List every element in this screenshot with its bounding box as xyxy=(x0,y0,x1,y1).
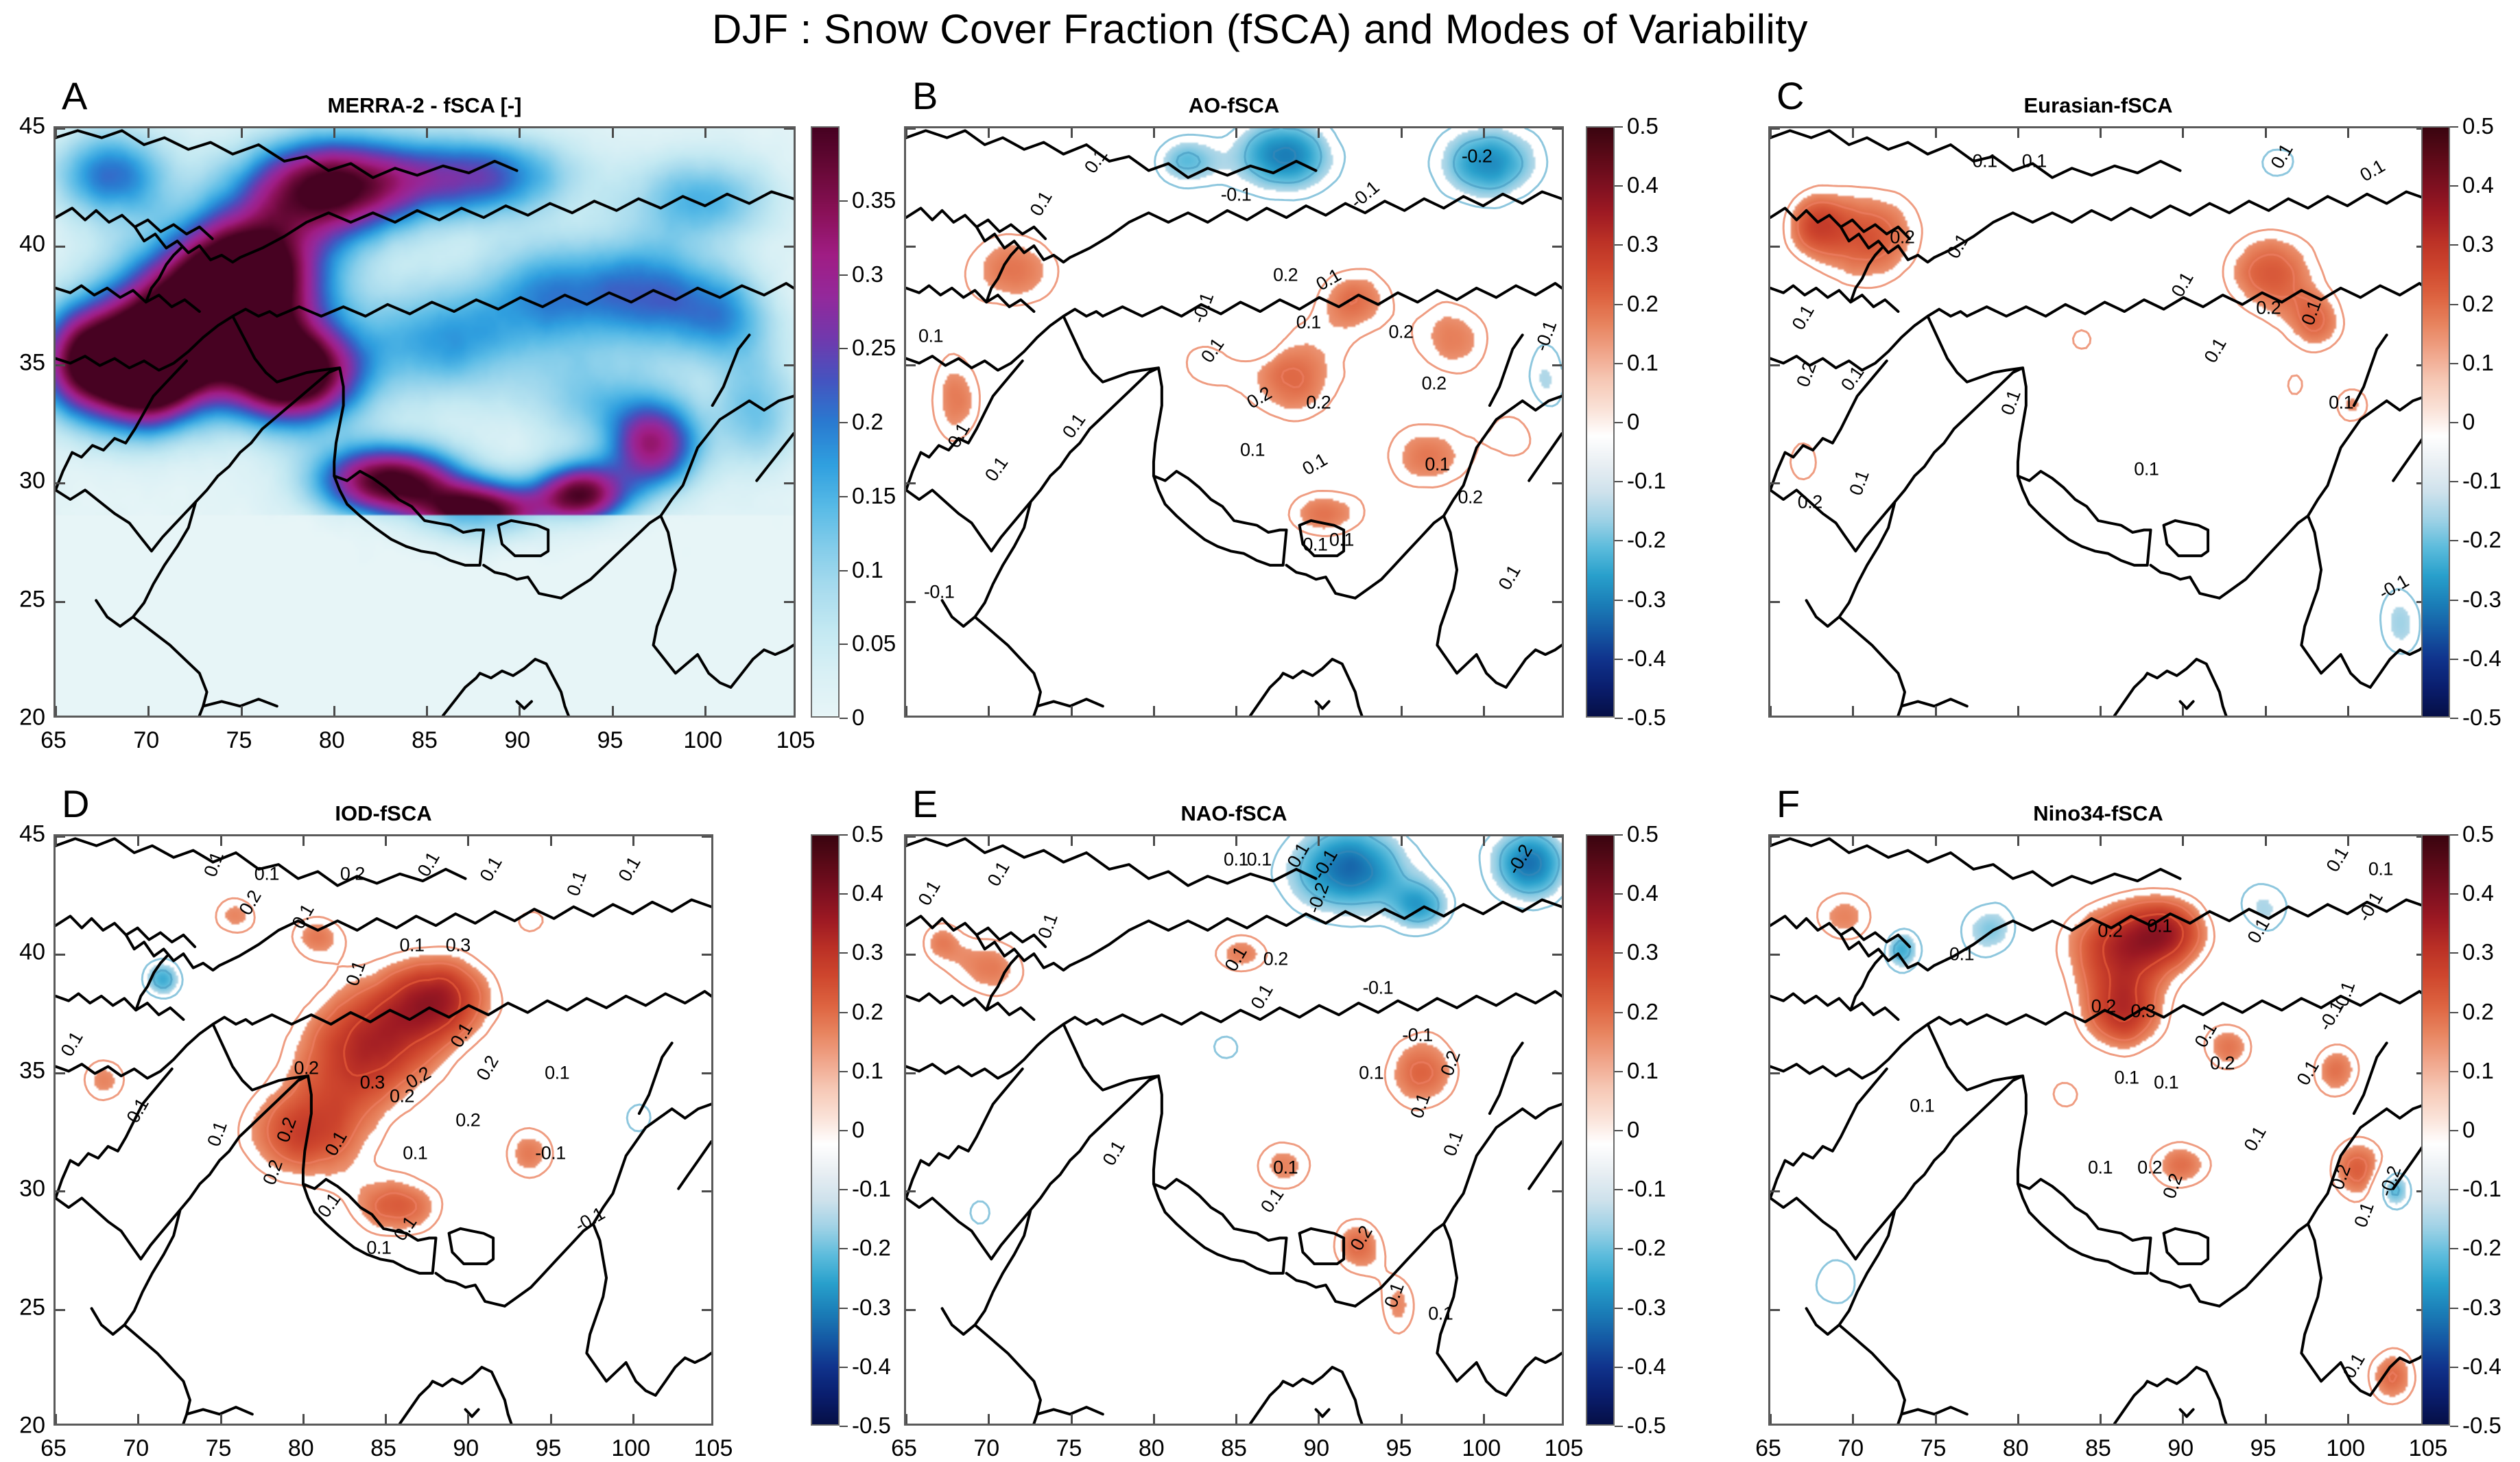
colorbar-tick-label: -0.1 xyxy=(2462,1176,2501,1202)
colorbar-tick-label: 0.2 xyxy=(1627,999,1659,1025)
colorbar-tick-label: -0.3 xyxy=(2462,587,2501,613)
x-tick-top xyxy=(2182,128,2184,138)
colorbar-tick xyxy=(1615,1189,1623,1190)
colorbar-tick xyxy=(2450,600,2458,601)
x-tick xyxy=(1235,706,1237,716)
colorbar-tick xyxy=(1615,1367,1623,1368)
x-axis-label: 95 xyxy=(2250,1435,2277,1462)
x-tick xyxy=(988,1414,990,1424)
colorbar-tick-label: 0.4 xyxy=(2462,880,2494,906)
y-tick-right xyxy=(1552,836,1562,838)
x-tick xyxy=(137,1414,139,1424)
colorbar-tick-label: -0.5 xyxy=(1627,1413,1666,1439)
x-tick-top xyxy=(2182,836,2184,846)
contour-label: 0.1 xyxy=(1425,453,1449,475)
map-borders-a xyxy=(56,128,794,716)
colorbar-tick xyxy=(840,893,848,895)
colorbar-tick-label: 0.4 xyxy=(1627,172,1659,198)
colorbar-tick xyxy=(2450,1130,2458,1131)
y-tick-right xyxy=(1552,1309,1562,1311)
contour-label: -0.1 xyxy=(924,581,955,602)
x-tick-top xyxy=(1483,128,1485,138)
y-tick xyxy=(56,1309,65,1311)
colorbar-tick xyxy=(1615,659,1623,660)
x-tick-top xyxy=(1318,128,1320,138)
colorbar-tick xyxy=(1615,185,1623,187)
contour-label: 0.3 xyxy=(360,1072,385,1093)
y-tick xyxy=(56,246,65,248)
map-axes-a xyxy=(54,126,796,718)
colorbar-tick xyxy=(2450,1071,2458,1072)
x-tick-top xyxy=(147,128,150,138)
contour-label: 0.1 xyxy=(2022,151,2047,172)
y-tick-right xyxy=(702,954,711,956)
contour-label: 0.2 xyxy=(1422,373,1447,394)
x-tick-top xyxy=(905,128,907,138)
x-tick xyxy=(55,706,57,716)
x-tick xyxy=(426,706,428,716)
colorbar-tick xyxy=(2450,185,2458,187)
x-axis-label: 75 xyxy=(1921,1435,1947,1462)
colorbar-tick-label: -0.1 xyxy=(852,1176,891,1202)
colorbar-tick-label: 0 xyxy=(1627,1117,1639,1143)
colorbar-a: 00.050.10.150.20.250.30.35 xyxy=(811,126,840,718)
x-axis-label: 65 xyxy=(40,727,67,754)
x-axis-label: 100 xyxy=(2326,1435,2365,1462)
colorbar-tick-label: 0.3 xyxy=(2462,231,2494,257)
panel-title-d: IOD-fSCA xyxy=(54,801,713,826)
colorbar-tick xyxy=(840,422,848,423)
colorbar-tick-label: 0.4 xyxy=(2462,172,2494,198)
y-axis-label: 35 xyxy=(1,349,45,376)
x-tick-top xyxy=(467,836,469,846)
y-tick xyxy=(906,1309,916,1311)
y-tick-right xyxy=(702,1190,711,1192)
colorbar-tick-label: 0.2 xyxy=(2462,999,2494,1025)
x-tick xyxy=(1770,1414,1772,1424)
colorbar-tick-label: 0.5 xyxy=(1627,113,1659,139)
y-tick xyxy=(906,128,916,130)
contour-label: 0.2 xyxy=(2256,298,2281,319)
y-tick xyxy=(56,364,65,366)
colorbar-tick-label: -0.3 xyxy=(852,1295,891,1321)
colorbar-tick xyxy=(2450,363,2458,364)
colorbar-tick xyxy=(1615,244,1623,246)
colorbar-tick-label: 0 xyxy=(852,705,864,731)
colorbar-tick-label: 0.3 xyxy=(1627,231,1659,257)
y-tick xyxy=(56,482,65,484)
colorbar-tick-label: -0.2 xyxy=(2462,527,2501,553)
x-tick-top xyxy=(2017,128,2019,138)
y-tick xyxy=(1770,836,1780,838)
x-tick xyxy=(1483,706,1485,716)
x-tick xyxy=(1153,1414,1155,1424)
figure-title: DJF : Snow Cover Fraction (fSCA) and Mod… xyxy=(0,5,2520,53)
x-tick-top xyxy=(137,836,139,846)
map-axes-d: 0.10.10.20.10.10.10.10.20.10.10.30.10.10… xyxy=(54,834,713,1426)
colorbar-tick xyxy=(840,718,848,719)
panel-title-f: Nino34-fSCA xyxy=(1768,801,2428,826)
x-tick xyxy=(333,706,335,716)
colorbar-tick xyxy=(1615,1248,1623,1249)
x-axis-label: 85 xyxy=(1221,1435,1247,1462)
y-tick-right xyxy=(784,482,794,484)
x-axis-label: 100 xyxy=(683,727,722,754)
colorbar-tick-label: 0.5 xyxy=(852,821,883,847)
contour-label: 0.2 xyxy=(1388,321,1413,342)
y-tick xyxy=(906,1190,916,1192)
colorbar-tick xyxy=(2450,1189,2458,1190)
x-axis-label: 70 xyxy=(973,1435,999,1462)
colorbar-tick xyxy=(1615,1130,1623,1131)
x-tick-top xyxy=(2265,128,2267,138)
x-tick xyxy=(1935,706,1937,716)
colorbar-tick-label: 0.1 xyxy=(1627,1058,1659,1084)
x-tick xyxy=(2100,706,2102,716)
x-axis-label: 65 xyxy=(891,1435,917,1462)
colorbar-e: 0.50.40.30.20.10-0.1-0.2-0.3-0.4-0.5 xyxy=(1586,834,1615,1426)
colorbar-tick xyxy=(1615,422,1623,423)
y-tick xyxy=(1770,1309,1780,1311)
x-tick xyxy=(2347,706,2349,716)
y-tick xyxy=(1770,1190,1780,1192)
x-tick-top xyxy=(704,128,706,138)
x-tick xyxy=(2017,706,2019,716)
contour-label: 0.1 xyxy=(2148,916,2172,937)
y-tick xyxy=(56,836,65,838)
colorbar-tick xyxy=(840,1130,848,1131)
colorbar-tick xyxy=(840,570,848,571)
colorbar-tick-label: 0.2 xyxy=(852,409,883,435)
contour-label: -0.1 xyxy=(1221,184,1252,205)
colorbar-tick xyxy=(1615,1071,1623,1072)
x-axis-label: 65 xyxy=(1755,1435,1781,1462)
colorbar-tick-label: 0.1 xyxy=(852,1058,883,1084)
x-tick xyxy=(704,706,706,716)
y-tick-right xyxy=(784,246,794,248)
colorbar-tick xyxy=(2450,1308,2458,1309)
colorbar-strip xyxy=(2421,834,2450,1426)
x-tick-top xyxy=(220,836,222,846)
y-tick-right xyxy=(702,1309,711,1311)
y-tick xyxy=(56,601,65,603)
colorbar-tick-label: 0 xyxy=(2462,409,2475,435)
y-tick-right xyxy=(1552,1190,1562,1192)
colorbar-tick xyxy=(2450,422,2458,423)
x-tick-top xyxy=(333,128,335,138)
x-tick xyxy=(147,706,150,716)
colorbar-tick xyxy=(2450,952,2458,954)
x-tick-top xyxy=(1935,128,1937,138)
x-tick xyxy=(2182,706,2184,716)
x-tick xyxy=(905,1414,907,1424)
y-axis-label: 25 xyxy=(1,586,45,613)
y-tick xyxy=(906,836,916,838)
x-tick-top xyxy=(1235,128,1237,138)
x-tick xyxy=(1852,1414,1854,1424)
y-tick-right xyxy=(1552,482,1562,484)
contour-label: 0.1 xyxy=(1247,849,1272,871)
colorbar-f: 0.50.40.30.20.10-0.1-0.2-0.3-0.4-0.5 xyxy=(2421,834,2450,1426)
colorbar-tick xyxy=(1615,363,1623,364)
x-tick xyxy=(1071,706,1073,716)
y-tick xyxy=(1770,364,1780,366)
x-tick-top xyxy=(1318,836,1320,846)
contour-label: 0.2 xyxy=(1458,486,1482,508)
x-tick xyxy=(2265,1414,2267,1424)
colorbar-tick-label: -0.5 xyxy=(2462,705,2501,731)
panel-title-a: MERRA-2 - fSCA [-] xyxy=(54,93,796,118)
colorbar-tick xyxy=(2450,244,2458,246)
x-tick-top xyxy=(550,836,552,846)
colorbar-tick-label: -0.3 xyxy=(1627,587,1666,613)
colorbar-tick xyxy=(1615,718,1623,719)
colorbar-tick-label: 0.5 xyxy=(2462,113,2494,139)
colorbar-tick xyxy=(2450,834,2458,836)
contour-label: 0.3 xyxy=(446,934,471,956)
x-tick-top xyxy=(1153,836,1155,846)
colorbar-tick-label: -0.4 xyxy=(2462,646,2501,672)
x-axis-label: 90 xyxy=(504,727,530,754)
contour-label: 0.1 xyxy=(254,864,279,885)
contour-label: -0.1 xyxy=(1402,1024,1433,1046)
x-tick-top xyxy=(1770,128,1772,138)
x-axis-label: 90 xyxy=(2167,1435,2194,1462)
colorbar-tick xyxy=(840,1308,848,1309)
x-tick-top xyxy=(1401,128,1403,138)
x-tick-top xyxy=(905,836,907,846)
x-tick xyxy=(2017,1414,2019,1424)
contour-label: 0.1 xyxy=(2329,392,2353,413)
y-tick xyxy=(1770,482,1780,484)
y-tick-right xyxy=(784,364,794,366)
x-axis-label: 70 xyxy=(123,1435,149,1462)
x-tick-top xyxy=(1235,836,1237,846)
map-axes-e: 0.10.10.10.1-0.1-0.2-0.20.10.10.20.1-0.1… xyxy=(904,834,1564,1426)
x-tick xyxy=(1318,1414,1320,1424)
contour-label: 0.1 xyxy=(1273,1157,1298,1178)
x-tick xyxy=(1235,1414,1237,1424)
y-tick xyxy=(56,1072,65,1074)
colorbar-tick-label: 0.15 xyxy=(852,483,896,509)
y-tick-right xyxy=(1552,364,1562,366)
contour-label: 0.1 xyxy=(399,934,424,956)
x-axis-label: 75 xyxy=(1056,1435,1082,1462)
colorbar-tick-label: -0.4 xyxy=(1627,646,1666,672)
y-tick-right xyxy=(784,128,794,130)
x-tick xyxy=(55,1414,57,1424)
x-tick xyxy=(988,706,990,716)
colorbar-tick-label: 0 xyxy=(852,1117,864,1143)
colorbar-d: 0.50.40.30.20.10-0.1-0.2-0.3-0.4-0.5 xyxy=(811,834,840,1426)
contour-label: 0.1 xyxy=(2114,1067,2139,1088)
y-tick-right xyxy=(1552,1072,1562,1074)
y-tick xyxy=(1770,954,1780,956)
colorbar-tick xyxy=(840,1071,848,1072)
y-axis-label: 45 xyxy=(1,113,45,140)
colorbar-tick xyxy=(2450,1367,2458,1368)
x-tick-top xyxy=(2265,836,2267,846)
x-tick xyxy=(1483,1414,1485,1424)
contour-label: 0.2 xyxy=(2137,1157,2162,1178)
colorbar-tick xyxy=(1615,126,1623,128)
contour-label: 0.2 xyxy=(340,864,365,885)
colorbar-tick-label: -0.4 xyxy=(2462,1354,2501,1380)
colorbar-tick xyxy=(2450,893,2458,895)
x-tick xyxy=(1770,706,1772,716)
colorbar-tick xyxy=(1615,1308,1623,1309)
x-tick-top xyxy=(2100,128,2102,138)
x-axis-label: 65 xyxy=(40,1435,67,1462)
x-axis-label: 75 xyxy=(226,727,252,754)
colorbar-tick xyxy=(840,1012,848,1013)
colorbar-tick-label: 0 xyxy=(1627,409,1639,435)
panel-title-b: AO-fSCA xyxy=(904,93,1564,118)
x-tick-top xyxy=(2347,128,2349,138)
x-tick-top xyxy=(1401,836,1403,846)
colorbar-strip xyxy=(1586,834,1615,1426)
x-tick xyxy=(220,1414,222,1424)
x-tick-top xyxy=(1770,836,1772,846)
map-borders-c xyxy=(1770,128,2426,716)
contour-label: -0.1 xyxy=(535,1143,566,1164)
y-axis-label: 40 xyxy=(1,231,45,258)
colorbar-tick xyxy=(840,1189,848,1190)
colorbar-tick-label: -0.5 xyxy=(2462,1413,2501,1439)
colorbar-tick-label: -0.5 xyxy=(852,1413,891,1439)
colorbar-tick-label: -0.2 xyxy=(1627,527,1666,553)
y-tick xyxy=(56,128,65,130)
x-tick xyxy=(550,1414,552,1424)
y-tick xyxy=(906,1072,916,1074)
colorbar-tick-label: -0.1 xyxy=(2462,468,2501,494)
colorbar-tick xyxy=(840,496,848,497)
colorbar-tick xyxy=(2450,126,2458,128)
colorbar-tick xyxy=(1615,481,1623,482)
colorbar-tick-label: -0.2 xyxy=(2462,1235,2501,1261)
x-axis-label: 85 xyxy=(2085,1435,2111,1462)
x-axis-label: 105 xyxy=(694,1435,733,1462)
colorbar-tick-label: -0.1 xyxy=(1627,1176,1666,1202)
colorbar-tick xyxy=(1615,540,1623,541)
colorbar-tick xyxy=(2450,481,2458,482)
colorbar-strip xyxy=(811,834,840,1426)
y-tick-right xyxy=(1552,246,1562,248)
contour-label: 0.1 xyxy=(2134,458,2159,480)
colorbar-tick-label: 0.2 xyxy=(2462,291,2494,317)
contour-label: 0.1 xyxy=(1303,534,1327,555)
contour-label: 0.1 xyxy=(1973,151,1997,172)
contour-label: 0.1 xyxy=(545,1062,569,1083)
contour-label: 0.2 xyxy=(2097,920,2122,941)
x-tick-top xyxy=(1935,836,1937,846)
contour-label: 0.1 xyxy=(2368,859,2393,880)
colorbar-tick-label: 0.4 xyxy=(852,880,883,906)
contour-label: 0.1 xyxy=(1329,529,1354,550)
colorbar-tick-label: 0.3 xyxy=(2462,939,2494,965)
colorbar-tick xyxy=(1615,304,1623,305)
y-tick xyxy=(906,482,916,484)
colorbar-tick-label: 0.5 xyxy=(2462,821,2494,847)
y-axis-label: 20 xyxy=(1,1413,45,1439)
colorbar-tick-label: 0.2 xyxy=(1627,291,1659,317)
colorbar-tick xyxy=(840,952,848,954)
y-axis-label: 35 xyxy=(1,1057,45,1084)
x-tick-top xyxy=(2100,836,2102,846)
contour-label: 0.1 xyxy=(403,1143,427,1164)
x-tick-top xyxy=(1071,128,1073,138)
colorbar-tick xyxy=(2450,718,2458,719)
colorbar-tick-label: 0.05 xyxy=(852,630,896,657)
colorbar-tick xyxy=(1615,600,1623,601)
x-tick xyxy=(302,1414,305,1424)
contour-label: 0.1 xyxy=(1359,1062,1383,1083)
y-tick xyxy=(906,246,916,248)
x-tick xyxy=(1318,706,1320,716)
x-tick-top xyxy=(1071,836,1073,846)
y-axis-label: 45 xyxy=(1,821,45,848)
x-axis-label: 95 xyxy=(597,727,623,754)
colorbar-tick xyxy=(2450,540,2458,541)
x-axis-label: 105 xyxy=(776,727,816,754)
x-tick-top xyxy=(426,128,428,138)
y-tick xyxy=(56,1190,65,1192)
x-axis-label: 85 xyxy=(412,727,438,754)
colorbar-tick-label: 0.25 xyxy=(852,335,896,361)
x-tick xyxy=(467,1414,469,1424)
y-tick-right xyxy=(1552,128,1562,130)
x-tick xyxy=(241,706,243,716)
x-tick xyxy=(632,1414,634,1424)
colorbar-tick-label: 0.5 xyxy=(1627,821,1659,847)
y-tick xyxy=(56,954,65,956)
colorbar-tick-label: 0.35 xyxy=(852,187,896,213)
x-axis-label: 75 xyxy=(206,1435,232,1462)
x-tick-top xyxy=(1153,128,1155,138)
contour-label: 0.1 xyxy=(366,1237,391,1258)
y-axis-label: 30 xyxy=(1,1176,45,1203)
colorbar-tick-label: -0.2 xyxy=(852,1235,891,1261)
y-tick-right xyxy=(702,836,711,838)
colorbar-tick-label: -0.2 xyxy=(1627,1235,1666,1261)
colorbar-b: 0.50.40.30.20.10-0.1-0.2-0.3-0.4-0.5 xyxy=(1586,126,1615,718)
x-tick xyxy=(612,706,614,716)
x-tick-top xyxy=(241,128,243,138)
x-tick-top xyxy=(988,128,990,138)
x-tick xyxy=(1071,1414,1073,1424)
contour-label: 0.2 xyxy=(2210,1053,2235,1074)
x-axis-label: 90 xyxy=(453,1435,479,1462)
x-axis-label: 90 xyxy=(1303,1435,1329,1462)
contour-label: 0.2 xyxy=(1890,226,1914,248)
colorbar-tick-label: 0.3 xyxy=(852,261,883,287)
x-axis-label: 95 xyxy=(1386,1435,1412,1462)
y-tick-right xyxy=(1552,601,1562,603)
contour-label: 0.2 xyxy=(2091,996,2116,1017)
x-axis-label: 105 xyxy=(2409,1435,2448,1462)
x-axis-label: 85 xyxy=(370,1435,396,1462)
map-axes-c: 0.10.10.10.10.20.10.10.20.10.10.20.10.10… xyxy=(1768,126,2428,718)
contour-label: 0.1 xyxy=(2088,1157,2113,1178)
y-axis-label: 30 xyxy=(1,468,45,495)
colorbar-strip xyxy=(2421,126,2450,718)
contour-label: 0.2 xyxy=(1798,491,1822,512)
colorbar-tick-label: -0.1 xyxy=(1627,468,1666,494)
colorbar-tick xyxy=(1615,952,1623,954)
colorbar-tick xyxy=(840,348,848,349)
x-tick-top xyxy=(2017,836,2019,846)
x-tick-top xyxy=(2347,836,2349,846)
